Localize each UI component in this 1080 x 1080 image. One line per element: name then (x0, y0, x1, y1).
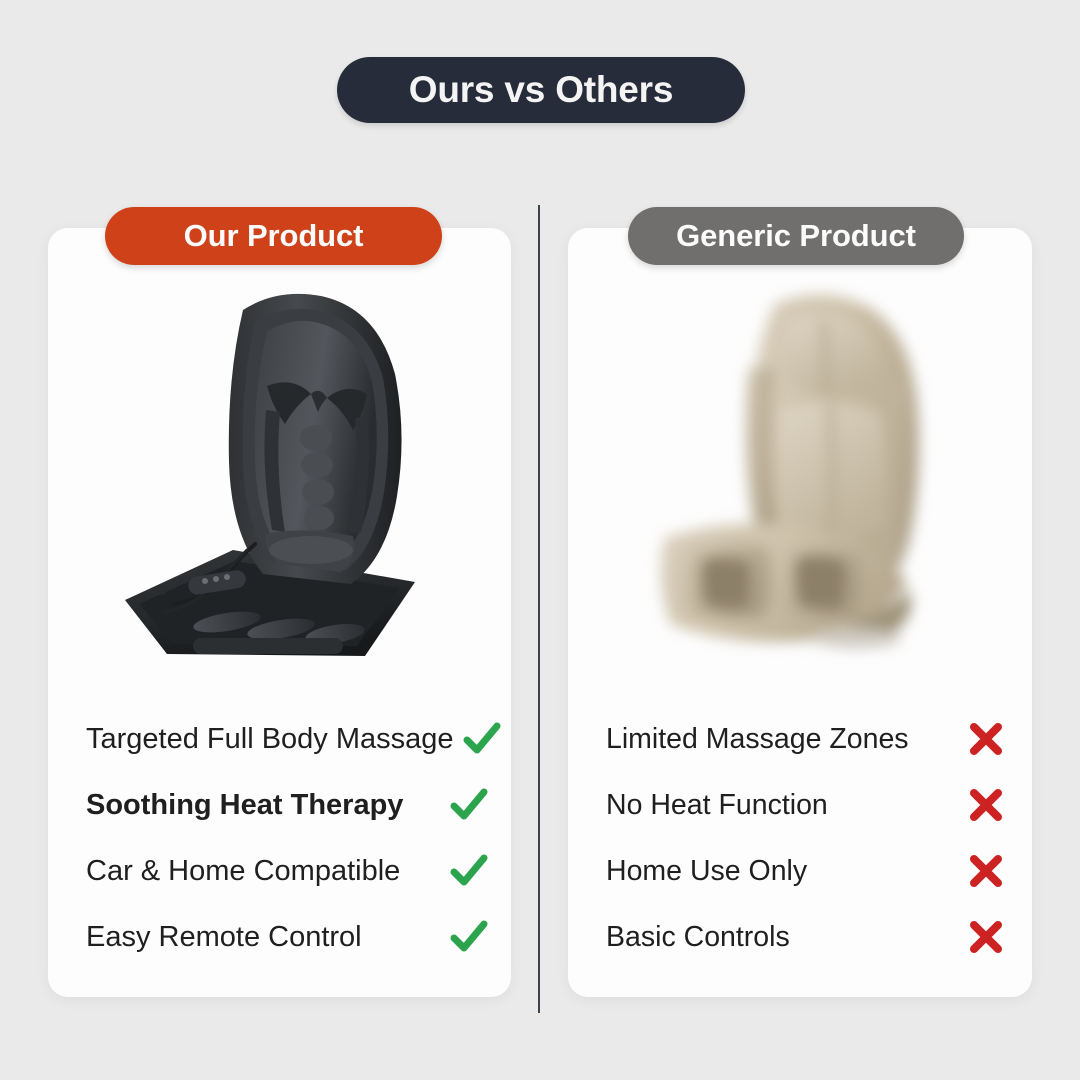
feature-label: Easy Remote Control (86, 921, 441, 954)
product-image-ours (48, 282, 511, 672)
massage-seat-cushion-icon (115, 282, 445, 672)
page-title-badge: Ours vs Others (337, 57, 745, 123)
feature-label: Soothing Heat Therapy (86, 789, 441, 822)
cross-icon (958, 786, 1014, 824)
column-badge-generic-label: Generic Product (676, 218, 916, 254)
feature-label: Car & Home Compatible (86, 855, 441, 888)
check-icon (454, 719, 510, 759)
feature-row: Soothing Heat Therapy (48, 772, 511, 838)
feature-label: Basic Controls (606, 921, 958, 954)
vertical-divider (538, 205, 540, 1013)
feature-label: Targeted Full Body Massage (86, 723, 454, 756)
column-badge-generic: Generic Product (628, 207, 964, 265)
column-badge-ours-label: Our Product (184, 218, 364, 254)
feature-row: Basic Controls (568, 904, 1032, 970)
feature-row: Targeted Full Body Massage (48, 706, 511, 772)
column-badge-ours: Our Product (105, 207, 442, 265)
feature-list-generic: Limited Massage Zones No Heat Function H… (568, 706, 1032, 970)
page-title: Ours vs Others (409, 69, 674, 111)
product-image-generic (568, 282, 1032, 672)
check-icon (441, 851, 497, 891)
feature-label: No Heat Function (606, 789, 958, 822)
generic-massage-chair-icon (625, 282, 975, 672)
feature-list-ours: Targeted Full Body Massage Soothing Heat… (48, 706, 511, 970)
cross-icon (958, 852, 1014, 890)
feature-row: Easy Remote Control (48, 904, 511, 970)
feature-row: Car & Home Compatible (48, 838, 511, 904)
check-icon (441, 785, 497, 825)
feature-row: Limited Massage Zones (568, 706, 1032, 772)
feature-label: Home Use Only (606, 855, 958, 888)
feature-label: Limited Massage Zones (606, 723, 958, 756)
cross-icon (958, 720, 1014, 758)
check-icon (441, 917, 497, 957)
feature-row: No Heat Function (568, 772, 1032, 838)
cross-icon (958, 918, 1014, 956)
feature-row: Home Use Only (568, 838, 1032, 904)
